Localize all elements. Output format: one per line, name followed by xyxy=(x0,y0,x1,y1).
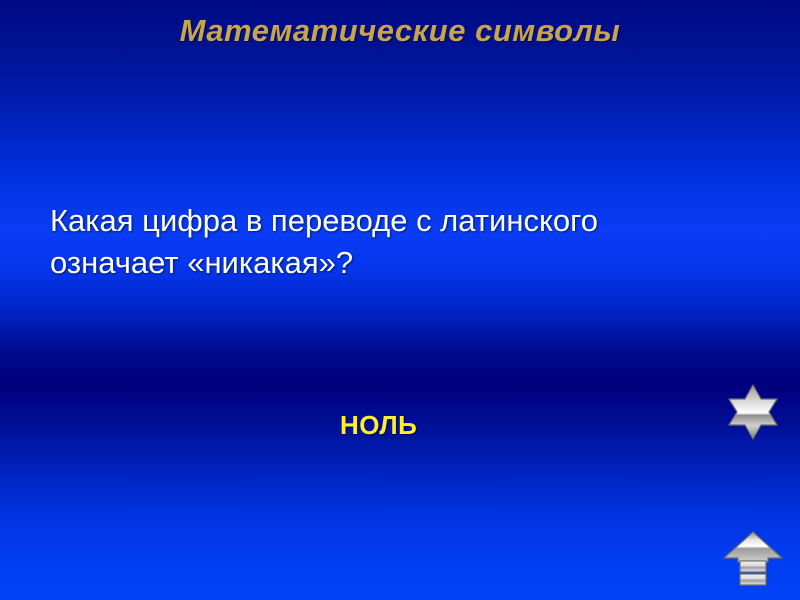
page-title: Математические символы xyxy=(0,12,800,50)
quiz-slide: Математические символы Какая цифра в пер… xyxy=(0,0,800,600)
answer-text: НОЛЬ xyxy=(340,410,417,441)
question-line-1: Какая цифра в переводе с латинского xyxy=(50,200,770,242)
star-icon[interactable] xyxy=(727,383,779,441)
up-arrow-icon[interactable] xyxy=(721,528,785,588)
question-text: Какая цифра в переводе с латинского озна… xyxy=(50,200,770,284)
question-line-2: означает «никакая»? xyxy=(50,242,770,284)
